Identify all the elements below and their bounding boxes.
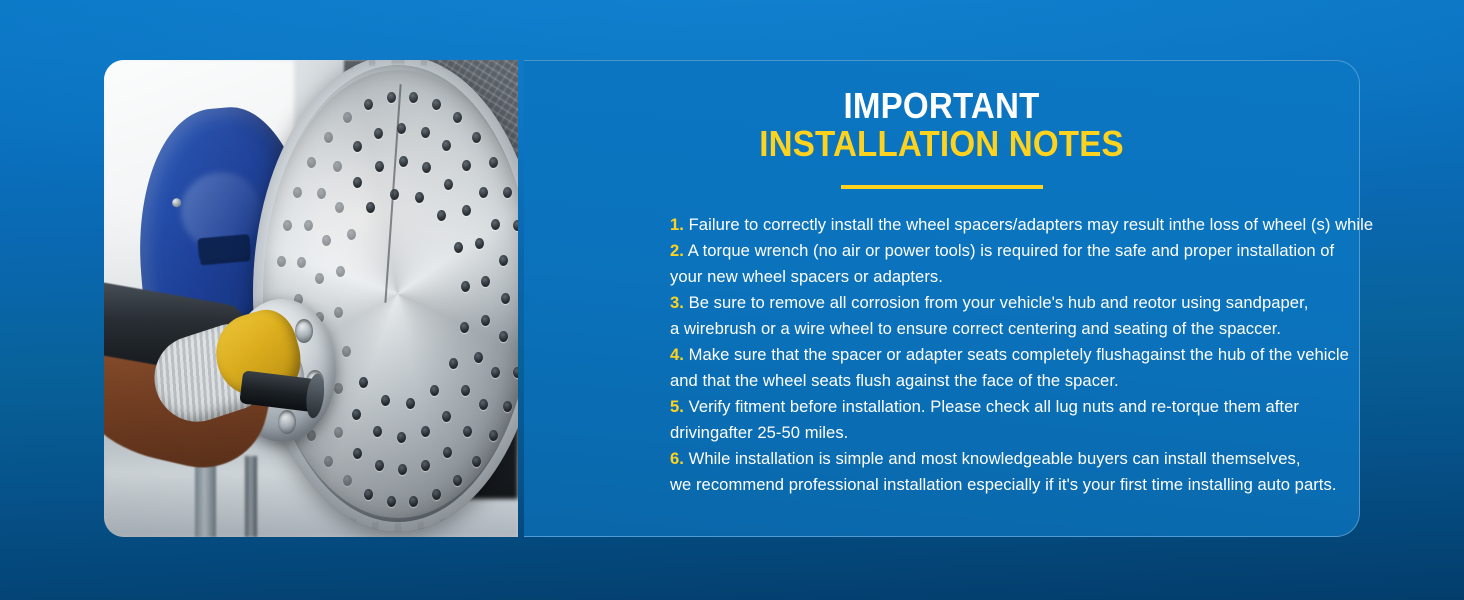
card-heading: IMPORTANT INSTALLATION NOTES	[524, 61, 1359, 163]
note-text: your new wheel spacers or adapters.	[670, 267, 943, 286]
note-number: 5.	[670, 397, 684, 416]
note-text: Make sure that the spacer or adapter sea…	[689, 345, 1349, 364]
heading-line-2: INSTALLATION NOTES	[557, 125, 1325, 163]
heading-divider	[841, 185, 1043, 189]
note-text: Verify fitment before installation. Plea…	[689, 397, 1299, 416]
note-line: 1. Failure to correctly install the whee…	[670, 212, 1353, 238]
caliper-slot	[198, 234, 252, 261]
note-number: 4.	[670, 345, 684, 364]
note-number: 3.	[670, 293, 684, 312]
heading-line-1: IMPORTANT	[557, 87, 1325, 125]
note-line: we recommend professional installation e…	[670, 472, 1353, 498]
note-line: 5. Verify fitment before installation. P…	[670, 394, 1353, 420]
note-text: we recommend professional installation e…	[670, 475, 1336, 494]
notes-list: 1. Failure to correctly install the whee…	[524, 212, 1359, 498]
notes-card: IMPORTANT INSTALLATION NOTES 1. Failure …	[524, 60, 1360, 537]
note-line: 3. Be sure to remove all corrosion from …	[670, 290, 1353, 316]
spacer-lug-hole	[278, 410, 296, 434]
note-line: a wirebrush or a wire wheel to ensure co…	[670, 316, 1353, 342]
drilled-brake-rotor	[253, 60, 518, 532]
note-line: and that the wheel seats flush against t…	[670, 368, 1353, 394]
photo-lift-post-secondary	[245, 456, 257, 537]
note-line: drivingafter 25-50 miles.	[670, 420, 1353, 446]
note-text: a wirebrush or a wire wheel to ensure co…	[670, 319, 1281, 338]
note-number: 2.	[670, 241, 684, 260]
note-line: 6. While installation is simple and most…	[670, 446, 1353, 472]
brake-rotor-installation-photo	[104, 60, 518, 537]
note-text: and that the wheel seats flush against t…	[670, 371, 1119, 390]
note-line: 2. A torque wrench (no air or power tool…	[670, 238, 1353, 264]
installation-notes-banner: IMPORTANT INSTALLATION NOTES 1. Failure …	[104, 60, 1360, 537]
note-text: Failure to correctly install the wheel s…	[689, 215, 1374, 234]
note-text: While installation is simple and most kn…	[689, 449, 1301, 468]
note-number: 6.	[670, 449, 684, 468]
note-line: your new wheel spacers or adapters.	[670, 264, 1353, 290]
note-text: A torque wrench (no air or power tools) …	[688, 241, 1335, 260]
note-text: drivingafter 25-50 miles.	[670, 423, 848, 442]
photo-scene	[104, 60, 518, 537]
caliper-bolt	[172, 198, 182, 208]
note-text: Be sure to remove all corrosion from you…	[689, 293, 1309, 312]
spacer-lug-hole	[295, 319, 313, 343]
note-number: 1.	[670, 215, 684, 234]
note-line: 4. Make sure that the spacer or adapter …	[670, 342, 1353, 368]
